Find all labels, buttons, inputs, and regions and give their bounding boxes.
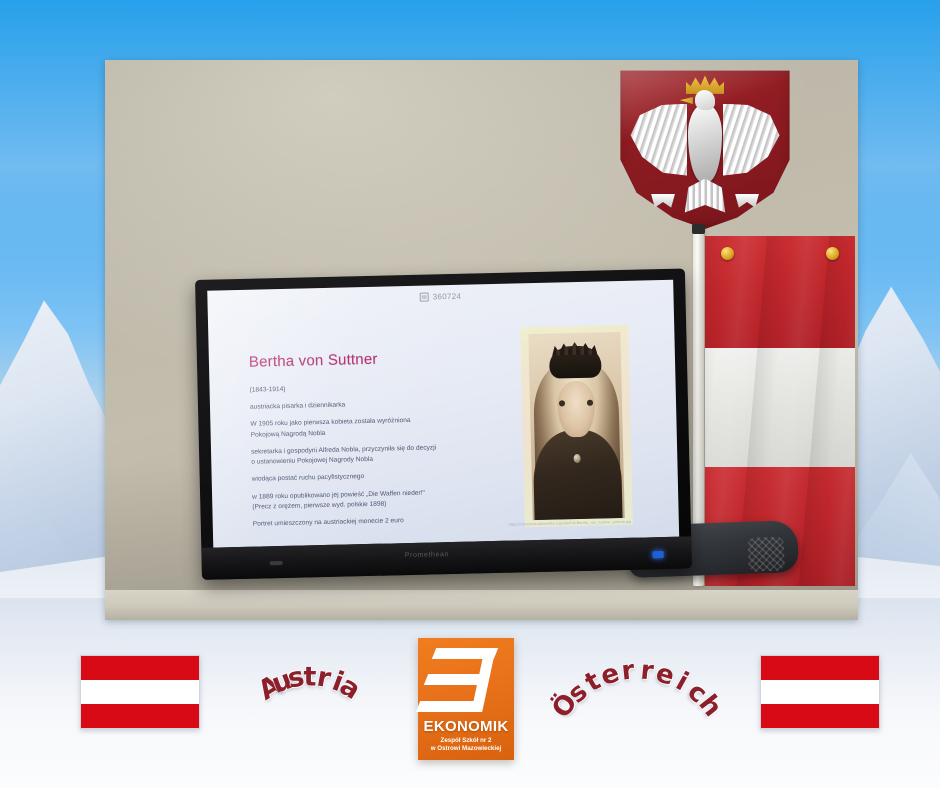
logo-bar-middle (424, 674, 482, 685)
slide-paragraph: w 1889 roku opublikowano jej powieść „Di… (252, 488, 442, 513)
display-screen[interactable]: 360724 Bertha von Suttner (1843-1914) au… (207, 280, 679, 548)
logo-school-subtitle: Zespół Szkół nr 2 w Ostrowi Mazowieckiej (418, 737, 514, 754)
slide-paragraph: wiodąca postać ruchu pacyfistycznego (252, 471, 442, 486)
slide-paragraph: W 1905 roku jako pierwsza kobieta został… (250, 416, 440, 441)
presentation-slide: 360724 Bertha von Suttner (1843-1914) au… (207, 280, 679, 548)
chair-mesh-right (748, 537, 785, 572)
osterreich-arc-text: Österreich (545, 655, 730, 740)
portrait-eye-right (587, 400, 593, 406)
slide-paragraph: sekretarka i gospodyni Alfreda Nobla, pr… (251, 443, 441, 468)
ekonomik-school-logo: EKONOMIK Zespół Szkół nr 2 w Ostrowi Maz… (418, 638, 514, 760)
arc-letter: r (620, 656, 636, 687)
classroom-photo: 360724 Bertha von Suttner (1843-1914) au… (105, 60, 858, 620)
flag-fastener-right (826, 247, 839, 260)
slide-header: 360724 (420, 292, 462, 302)
portrait-frame (520, 325, 633, 527)
eagle-body (688, 104, 722, 182)
interactive-display[interactable]: 360724 Bertha von Suttner (1843-1914) au… (195, 268, 692, 579)
slide-body-text: (1843-1914) austriacka pisarka i dzienni… (250, 381, 444, 537)
flag-pole-cap (692, 224, 705, 234)
display-bezel: 360724 Bertha von Suttner (1843-1914) au… (195, 268, 692, 579)
logo-subtitle-line2: w Ostrowi Mazowieckiej (418, 745, 514, 753)
eagle-head (695, 90, 715, 110)
austrian-flag-right (760, 655, 880, 729)
portrait-image (528, 332, 624, 520)
flag-stripe-red-bottom (761, 704, 879, 728)
flag-fastener-left (721, 247, 734, 260)
austrian-flag-left (80, 655, 200, 729)
flag-stripe-white (761, 680, 879, 704)
portrait-face (557, 381, 595, 438)
slide-title: Bertha von Suttner (249, 351, 378, 371)
slide-paragraph: austriacka pisarka i dziennikarka (250, 398, 440, 413)
logo-e-mark-icon (430, 646, 502, 716)
display-brand-label: Promethean (405, 551, 449, 559)
flag-stripe-red-top (761, 656, 879, 680)
document-icon (420, 292, 429, 301)
flag-stripe-red-bottom (81, 704, 199, 728)
portrait-eye-left (559, 400, 565, 406)
flag-stripe-white (81, 680, 199, 704)
austria-arc-text: Austria (230, 660, 390, 740)
floor-skirting (105, 590, 858, 620)
power-led-icon[interactable] (653, 551, 664, 558)
logo-school-name: EKONOMIK (418, 718, 514, 735)
polish-coat-of-arms-icon (615, 64, 795, 229)
flag-stripe-red-top (81, 656, 199, 680)
logo-subtitle-line1: Zespół Szkół nr 2 (418, 737, 514, 745)
portrait-headdress (549, 345, 601, 378)
slide-header-code: 360724 (433, 292, 462, 302)
slide-paragraph: Portret umieszczony na austriackiej mone… (253, 515, 443, 530)
slide-paragraph: (1843-1914) (250, 381, 440, 396)
ir-sensor-icon (270, 561, 283, 565)
